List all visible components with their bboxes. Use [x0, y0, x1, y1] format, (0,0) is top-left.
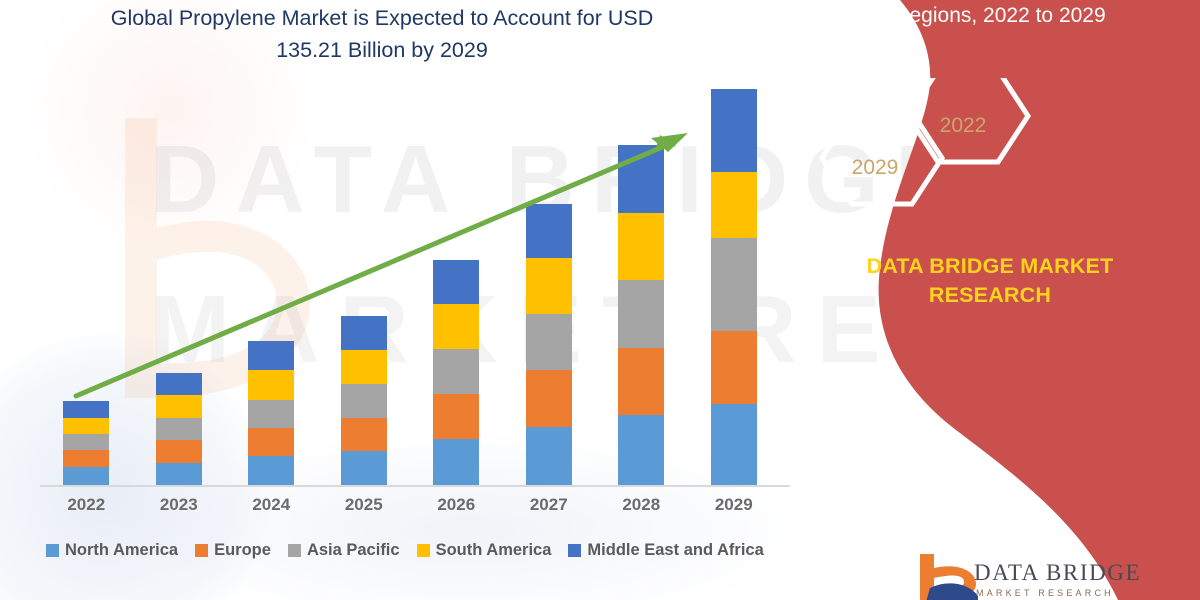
legend-item[interactable]: Asia Pacific	[288, 541, 400, 560]
bar-segment	[248, 370, 294, 399]
bar-segment	[526, 370, 572, 426]
bar-segment	[526, 427, 572, 486]
chart-title-line2: 135.21 Billion by 2029	[62, 34, 702, 66]
stacked-bar-chart: Global Propylene Market is Expected to A…	[0, 0, 900, 600]
bar-segment	[433, 394, 479, 439]
bar-segment	[63, 450, 109, 467]
hexagon-label-2022: 2022	[898, 114, 1028, 138]
bar-segment	[526, 258, 572, 314]
x-axis-label-2027: 2027	[509, 495, 589, 515]
bar-segment	[341, 350, 387, 384]
bar-segment	[711, 238, 757, 331]
legend-label: Middle East and Africa	[587, 541, 763, 560]
x-axis-labels: 20222023202420252026202720282029	[40, 495, 780, 521]
bar-2025	[341, 316, 387, 485]
dbmr-logo-mark-icon	[912, 552, 1200, 600]
x-axis-label-2028: 2028	[601, 495, 681, 515]
chart-title-line1: Global Propylene Market is Expected to A…	[62, 2, 702, 34]
infographic-root: DATA BRIDGE MARKET RESEARCH Global Propy…	[0, 0, 1200, 600]
legend-label: South America	[436, 541, 552, 560]
x-axis-label-2023: 2023	[139, 495, 219, 515]
bar-segment	[63, 401, 109, 418]
dbmr-logo-subtext: MARKET RESEARCH	[976, 588, 1114, 598]
bar-segment	[618, 280, 664, 348]
legend-swatch-icon	[417, 544, 430, 557]
bar-segment	[341, 384, 387, 418]
bar-segment	[156, 373, 202, 396]
bar-segment	[156, 395, 202, 418]
bar-segment	[433, 349, 479, 394]
legend-item[interactable]: South America	[417, 541, 552, 560]
chart-legend: North AmericaEuropeAsia PacificSouth Ame…	[46, 538, 764, 562]
bar-segment	[156, 418, 202, 441]
bar-segment	[526, 204, 572, 258]
hexagon-2022-shape	[908, 78, 1028, 162]
legend-label: Europe	[214, 541, 271, 560]
bar-segment	[248, 456, 294, 485]
x-axis-line	[40, 485, 790, 487]
legend-swatch-icon	[288, 544, 301, 557]
bar-2027	[526, 204, 572, 485]
chart-title: Global Propylene Market is Expected to A…	[62, 2, 702, 66]
legend-swatch-icon	[46, 544, 59, 557]
bar-2024	[248, 341, 294, 485]
bar-segment	[618, 213, 664, 281]
bar-segment	[156, 440, 202, 463]
bar-segment	[63, 434, 109, 450]
bar-segment	[711, 172, 757, 237]
bar-segment	[156, 463, 202, 486]
bar-2029	[711, 89, 757, 485]
legend-swatch-icon	[568, 544, 581, 557]
bar-segment	[433, 260, 479, 304]
bar-2028	[618, 145, 664, 485]
x-axis-label-2022: 2022	[46, 495, 126, 515]
bar-segment	[341, 451, 387, 485]
bar-group	[40, 80, 780, 485]
bar-segment	[618, 145, 664, 213]
bar-2023	[156, 373, 202, 486]
bar-segment	[711, 404, 757, 485]
legend-label: Asia Pacific	[307, 541, 400, 560]
dbmr-logo: DATA BRIDGE MARKET RESEARCH	[912, 552, 1200, 600]
legend-swatch-icon	[195, 544, 208, 557]
bar-segment	[63, 467, 109, 485]
bar-segment	[433, 439, 479, 485]
bar-segment	[711, 331, 757, 404]
bar-segment	[526, 314, 572, 370]
bar-segment	[341, 418, 387, 452]
bar-segment	[248, 341, 294, 370]
legend-label: North America	[65, 541, 178, 560]
bar-segment	[618, 348, 664, 416]
bar-2022	[63, 401, 109, 485]
legend-item[interactable]: Europe	[195, 541, 271, 560]
bar-segment	[248, 400, 294, 428]
bar-segment	[341, 316, 387, 350]
bar-segment	[711, 89, 757, 172]
legend-item[interactable]: Middle East and Africa	[568, 541, 763, 560]
bar-segment	[433, 304, 479, 349]
bar-segment	[618, 415, 664, 485]
dbmr-logo-text: DATA BRIDGE	[974, 560, 1141, 586]
bar-2026	[433, 260, 479, 485]
bar-segment	[63, 418, 109, 435]
x-axis-label-2029: 2029	[694, 495, 774, 515]
x-axis-label-2026: 2026	[416, 495, 496, 515]
x-axis-label-2024: 2024	[231, 495, 311, 515]
x-axis-label-2025: 2025	[324, 495, 404, 515]
bar-segment	[248, 428, 294, 456]
legend-item[interactable]: North America	[46, 541, 178, 560]
